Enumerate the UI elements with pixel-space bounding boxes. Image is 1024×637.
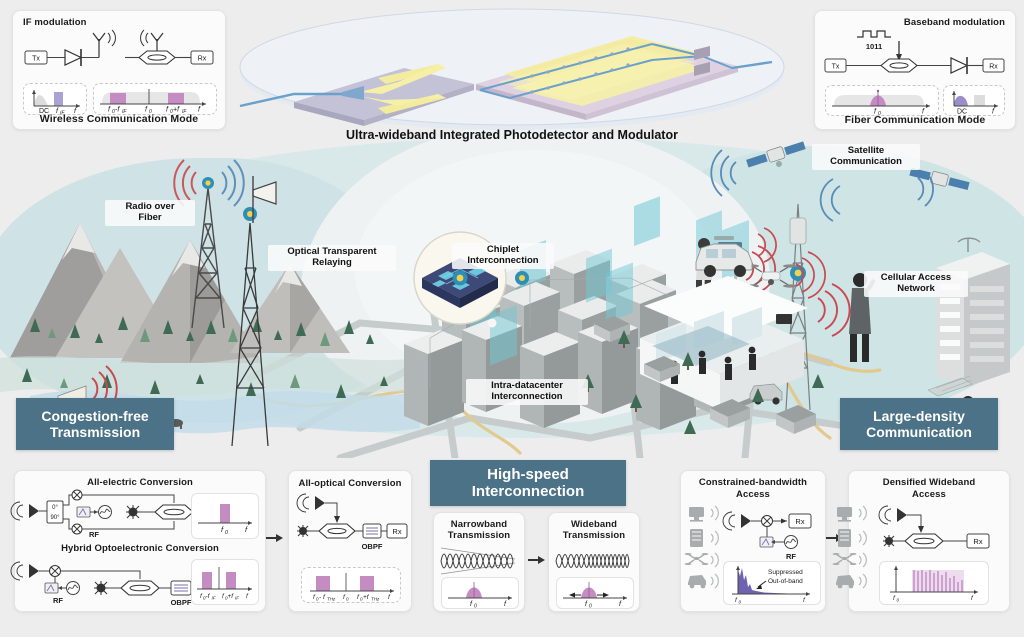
constrained-schematic: Rx RF bbox=[729, 509, 819, 561]
banner-right-line1: Large-density bbox=[873, 408, 965, 424]
spectrum-optical-sidebands: f 0 -f IF f 0 f 0 +f IF f bbox=[93, 83, 217, 115]
rx-label-right: Rx bbox=[989, 64, 998, 71]
constrained-title: Constrained-bandwidth Access bbox=[681, 477, 825, 501]
narrowband-waveform bbox=[439, 547, 519, 575]
spectrum-fiber-carrier: f 0 f bbox=[825, 85, 939, 116]
spectrum-wideband: f 0 f bbox=[556, 577, 634, 609]
densified-title: Densified Wideband Access bbox=[849, 477, 1009, 501]
spectrum-narrowband: f 0 f bbox=[441, 577, 519, 609]
svg-text:f: f bbox=[585, 601, 588, 608]
if-modulation-heading: IF modulation bbox=[23, 17, 87, 28]
svg-text:THz: THz bbox=[371, 597, 380, 602]
all-optical-panel: All-optical Conversion OBPF Rx bbox=[288, 470, 412, 612]
car-icon bbox=[688, 575, 706, 588]
spectrum-wideband-svg: f 0 f bbox=[557, 578, 633, 608]
car-icon bbox=[836, 575, 854, 588]
banner-right-line2: Communication bbox=[866, 424, 972, 440]
svg-text:- f: - f bbox=[319, 594, 326, 601]
drone-icon bbox=[833, 553, 857, 565]
svg-text:0: 0 bbox=[589, 604, 592, 610]
suppressed-label: Suppressed bbox=[768, 569, 803, 576]
wireless-mode-footer: Wireless Communication Mode bbox=[13, 113, 225, 125]
rof-line2: Fiber bbox=[110, 213, 190, 224]
wideband-line2: Transmission bbox=[549, 530, 639, 541]
svg-text:+f: +f bbox=[228, 593, 235, 600]
label-satellite-communication: Satellite Communication bbox=[812, 144, 920, 170]
densified-line1: Densified Wideband bbox=[849, 477, 1009, 489]
banner-high-speed-interconnection: High-speed Interconnection bbox=[430, 460, 626, 506]
svg-text:+f: +f bbox=[363, 594, 370, 601]
narrowband-title: Narrowband Transmission bbox=[434, 519, 524, 542]
spectrum-all-optical-svg: f 0 - f THz f 0 f 0 +f THz f bbox=[302, 568, 400, 602]
wideband-waveform bbox=[554, 547, 634, 575]
svg-text:0: 0 bbox=[225, 530, 229, 536]
spectrum-hybrid: f 0 -f IF f 0 +f IF f bbox=[191, 559, 259, 605]
svg-text:0: 0 bbox=[739, 600, 742, 605]
spectrum-densified: f 0 f bbox=[879, 561, 989, 605]
spectrum-dc-svg: DC f bbox=[944, 86, 1004, 115]
svg-text:f: f bbox=[803, 597, 806, 604]
rf-label-1: RF bbox=[89, 530, 99, 539]
banner-congestion-free: Congestion-free Transmission bbox=[16, 398, 174, 450]
tx-label-right: Tx bbox=[832, 64, 840, 71]
fiber-communication-panel: Baseband modulation 1011 Tx Rx bbox=[814, 10, 1016, 130]
obpf-label-hybrid: OBPF bbox=[171, 598, 192, 607]
svg-text:IF: IF bbox=[235, 596, 239, 601]
spectrum-if-baseband: DC f IF f bbox=[23, 83, 87, 115]
rx-label-optical: Rx bbox=[392, 527, 401, 536]
banner-center-line2: Interconnection bbox=[472, 483, 585, 500]
device-icon-column-2 bbox=[833, 505, 881, 597]
rx-label-left: Rx bbox=[198, 56, 207, 63]
rf-label-constrained: RF bbox=[786, 552, 796, 561]
svg-text:-f: -f bbox=[206, 593, 211, 600]
wireless-schematic: Tx Rx bbox=[13, 29, 225, 87]
all-optical-title: All-optical Conversion bbox=[289, 478, 411, 489]
arrow-narrow-to-wide bbox=[528, 552, 546, 568]
hybrid-90-label: 90° bbox=[50, 515, 60, 521]
wideband-title: Wideband Transmission bbox=[549, 519, 639, 542]
banner-large-density: Large-density Communication bbox=[840, 398, 998, 450]
rx-label-constrained: Rx bbox=[795, 517, 804, 526]
svg-text:f: f bbox=[388, 594, 391, 601]
banner-left-line2: Transmission bbox=[50, 424, 140, 440]
rf-label-2: RF bbox=[53, 596, 63, 605]
spectrum-b-svg: f 0 -f IF f 0 f 0 +f IF f bbox=[94, 84, 216, 114]
svg-text:0: 0 bbox=[897, 598, 900, 603]
fiber-schematic: 1011 Tx Rx bbox=[815, 25, 1015, 87]
cell-line2: Network bbox=[869, 284, 963, 295]
spectrum-fiber-svg: f 0 f bbox=[826, 86, 938, 115]
all-optical-schematic: OBPF Rx bbox=[289, 491, 411, 557]
wideband-line1: Wideband bbox=[549, 519, 639, 530]
chip-title: Ultra-wideband Integrated Photodetector … bbox=[232, 128, 792, 142]
spectrum-all-optical: f 0 - f THz f 0 f 0 +f THz f bbox=[301, 567, 401, 603]
constrained-line2: Access bbox=[681, 489, 825, 501]
spectrum-a-svg: DC f IF f bbox=[24, 84, 86, 114]
rx-label-densified: Rx bbox=[973, 537, 982, 546]
spectrum-fiber-baseband: DC f bbox=[943, 85, 1005, 116]
chiplet-line2: Interconnection bbox=[457, 256, 549, 267]
label-optical-transparent-relaying: Optical Transparent Relaying bbox=[268, 245, 396, 271]
constrained-bandwidth-panel: Constrained-bandwidth Access bbox=[680, 470, 826, 612]
conversion-panel: All-electric Conversion 0° 90° bbox=[14, 470, 266, 612]
label-intra-datacenter-interconnection: Intra-datacenter Interconnection bbox=[466, 379, 588, 405]
figure-canvas: Ultra-wideband Integrated Photodetector … bbox=[0, 0, 1024, 637]
all-electric-title: All-electric Conversion bbox=[15, 477, 265, 488]
svg-text:THz: THz bbox=[327, 597, 336, 602]
spectrum-densified-svg: f 0 f bbox=[880, 562, 988, 604]
chip-hero: Ultra-wideband Integrated Photodetector … bbox=[232, 6, 792, 156]
label-radio-over-fiber: Radio over Fiber bbox=[105, 200, 195, 226]
svg-text:f: f bbox=[971, 595, 974, 602]
narrowband-line2: Transmission bbox=[434, 530, 524, 541]
svg-text:f: f bbox=[221, 525, 224, 534]
densified-schematic: Rx bbox=[879, 505, 1007, 559]
spectrum-constrained: f 0 f Suppressed Out-of-band bbox=[723, 561, 821, 605]
dc-line2: Interconnection bbox=[471, 392, 583, 403]
spectrum-hybrid-svg: f 0 -f IF f 0 +f IF f bbox=[192, 560, 258, 604]
svg-text:0°: 0° bbox=[52, 505, 58, 511]
sat-line2: Communication bbox=[817, 157, 915, 168]
tx-label-left: Tx bbox=[32, 56, 40, 63]
label-chiplet-interconnection: Chiplet Interconnection bbox=[452, 243, 554, 269]
spectrum-all-electric: f 0 f bbox=[191, 493, 259, 539]
svg-text:f: f bbox=[619, 601, 622, 608]
densified-wideband-panel: Densified Wideband Access bbox=[848, 470, 1010, 612]
svg-text:f: f bbox=[245, 525, 248, 534]
spectrum-all-electric-svg: f 0 f bbox=[192, 494, 258, 538]
out-of-band-label: Out-of-band bbox=[768, 578, 803, 585]
svg-text:IF: IF bbox=[212, 596, 216, 601]
svg-text:f: f bbox=[470, 601, 473, 608]
svg-text:f: f bbox=[504, 601, 507, 608]
narrowband-panel: Narrowband Transmission f 0 f bbox=[433, 512, 525, 612]
wireless-communication-panel: IF modulation Tx bbox=[12, 10, 226, 130]
spectrum-narrowband-svg: f 0 f bbox=[442, 578, 518, 608]
arrow-to-all-optical bbox=[266, 530, 284, 546]
monitor-icon bbox=[837, 507, 852, 517]
otr-line2: Relaying bbox=[273, 258, 391, 269]
svg-text:f: f bbox=[246, 593, 249, 600]
banner-center-line1: High-speed bbox=[487, 466, 569, 483]
fiber-mode-footer: Fiber Communication Mode bbox=[815, 114, 1015, 126]
drone-icon bbox=[685, 553, 709, 565]
chip-illustration bbox=[232, 6, 792, 136]
constrained-line1: Constrained-bandwidth bbox=[681, 477, 825, 489]
bitstream-label: 1011 bbox=[866, 42, 882, 51]
narrowband-line1: Narrowband bbox=[434, 519, 524, 530]
densified-line2: Access bbox=[849, 489, 1009, 501]
hybrid-title: Hybrid Optoelectronic Conversion bbox=[15, 543, 265, 554]
svg-text:0: 0 bbox=[474, 604, 477, 610]
svg-text:0: 0 bbox=[346, 597, 349, 602]
banner-left-line1: Congestion-free bbox=[41, 408, 148, 424]
spectrum-constrained-svg: f 0 f Suppressed Out-of-band bbox=[724, 562, 820, 604]
label-cellular-access-network: Cellular Access Network bbox=[864, 271, 968, 297]
monitor-icon bbox=[689, 507, 704, 517]
obpf-label-optical: OBPF bbox=[362, 542, 383, 551]
wideband-panel: Wideband Transmission f 0 f bbox=[548, 512, 640, 612]
